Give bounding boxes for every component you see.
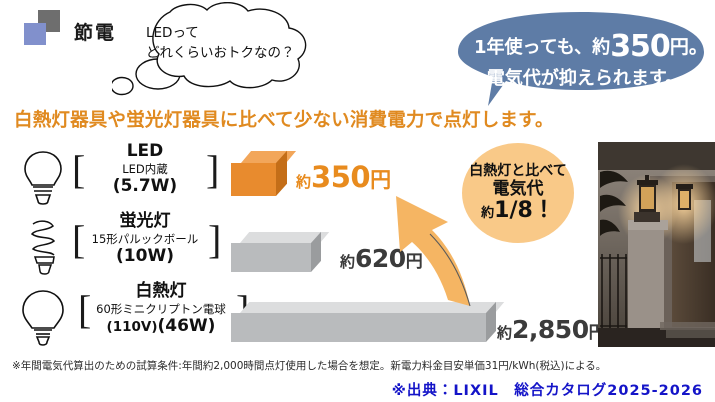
incandescent-watt-line: (110V)(46W): [88, 316, 234, 336]
bar-incandescent-front: [231, 313, 486, 342]
footnote-text: ※年間電気代算出のための試算条件:年間約2,000時間点灯使用した場合を想定。新…: [12, 358, 606, 373]
bar-led-top: [241, 151, 296, 163]
incandescent-spec: 60形ミニクリプトン電球: [88, 302, 234, 316]
blue-callout-footnote-mark: ※: [708, 36, 715, 47]
bracket-right: ]: [208, 220, 221, 260]
blue-callout-prefix: 1年使っても、約: [474, 37, 610, 58]
legend-label: 節電: [74, 18, 116, 45]
fluorescent-name: 蛍光灯: [82, 212, 208, 232]
blue-callout-line-2: 電気代が抑えられます。: [474, 67, 696, 91]
infographic-root: 節電 LEDって どれくらいおトクなの？ 1年使っても、約350円。※ 電気代が…: [0, 0, 715, 402]
blue-callout: 1年使っても、約350円。※ 電気代が抑えられます。: [452, 10, 710, 108]
led-label: LED LED内蔵 (5.7W): [86, 142, 204, 196]
led-bulb-icon: [16, 146, 70, 208]
badge-line-3-prefix: 約: [481, 206, 494, 221]
thought-line-1: LEDって: [146, 24, 316, 44]
blue-callout-line-1: 1年使っても、約350円。※: [474, 30, 696, 63]
bracket-left: [: [72, 150, 85, 190]
badge-ratio: 1/8！: [494, 198, 555, 223]
price-led-prefix: 約: [296, 173, 311, 191]
blue-callout-yen: 円。: [670, 36, 708, 58]
price-led-value: 350: [311, 160, 370, 194]
photo-illustration: [598, 142, 715, 347]
incandescent-label: 白熱灯 60形ミニクリプトン電球 (110V)(46W): [88, 282, 234, 336]
led-name: LED: [86, 142, 204, 162]
blue-callout-text: 1年使っても、約350円。※ 電気代が抑えられます。: [474, 30, 696, 91]
bar-fluorescent: [231, 232, 331, 272]
fluorescent-spec: 15形パルックボール: [82, 232, 208, 246]
page-headline: 白熱灯器具や蛍光灯器具に比べて少ない消費電力で点灯します。: [14, 106, 554, 132]
bar-led-front: [231, 163, 276, 196]
price-incandescent: 約2,850円: [497, 315, 606, 344]
comparison-badge: 白熱灯と比べて 電気代 約1/8！: [462, 143, 574, 243]
bar-fluorescent-front: [231, 243, 311, 272]
incandescent-name: 白熱灯: [88, 282, 234, 302]
bracket-right: ]: [206, 150, 219, 190]
bar-led: [231, 151, 291, 196]
badge-line-1: 白熱灯と比べて: [469, 163, 566, 179]
incandescent-voltage: (110V): [107, 319, 158, 335]
entrance-lighting-photo: [598, 142, 715, 347]
source-text: ※出典：LIXIL 総合カタログ2025-2026: [392, 379, 703, 400]
thought-line-2: どれくらいおトクなの？: [146, 44, 316, 64]
fluorescent-bulb-icon: [16, 216, 70, 278]
legend-square-blue-icon: [24, 23, 46, 45]
fluorescent-label: 蛍光灯 15形パルックボール (10W): [82, 212, 208, 266]
price-incandescent-value: 2,850: [512, 315, 589, 344]
incandescent-watt: (46W): [158, 316, 216, 336]
price-led: 約350円: [296, 160, 391, 194]
badge-line-3: 約1/8！: [481, 199, 555, 223]
price-incandescent-prefix: 約: [497, 324, 512, 342]
thought-bubble: LEDって どれくらいおトクなの？: [112, 2, 322, 98]
led-watt: (5.7W): [86, 176, 204, 196]
incandescent-bulb-icon: [16, 286, 70, 348]
badge-line-2: 電気代: [493, 179, 544, 199]
thought-bubble-text: LEDって どれくらいおトクなの？: [146, 24, 316, 63]
price-fluorescent-prefix: 約: [340, 253, 355, 271]
fluorescent-watt: (10W): [82, 246, 208, 266]
blue-callout-amount: 350: [610, 29, 670, 64]
led-spec: LED内蔵: [86, 162, 204, 176]
